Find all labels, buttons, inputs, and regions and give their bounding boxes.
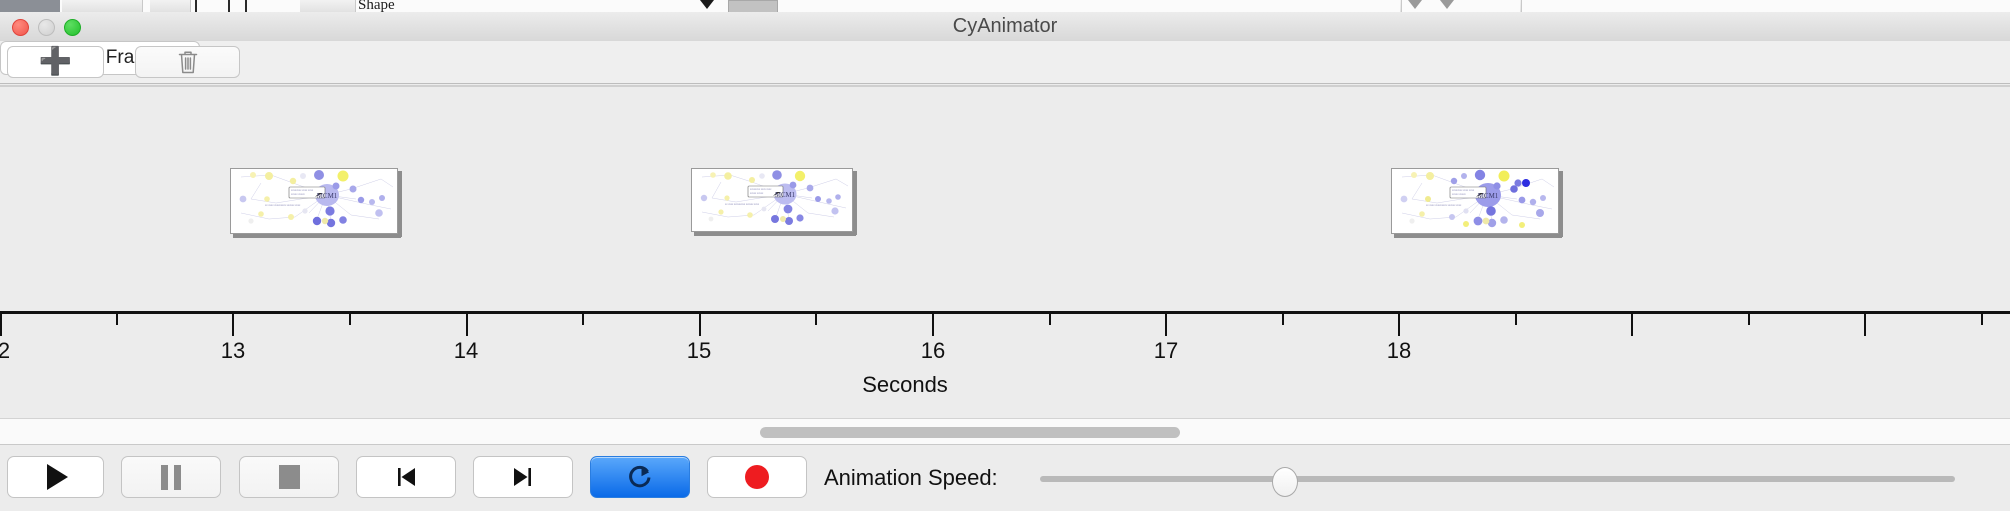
- cyanimator-window: Shape CyAnimator ➕ Clear All Frames: [0, 0, 2010, 510]
- axis-minor-tick: [1282, 314, 1284, 325]
- title-bar[interactable]: CyAnimator: [0, 12, 2010, 42]
- svg-text:xxxxxxxx xxxx xxxx: xxxxxxxx xxxx xxxx: [1452, 189, 1475, 192]
- axis-tick-label: 15: [687, 338, 711, 364]
- svg-text:xx xxxx xxxxxxxxx xxxxxx xxxx: xx xxxx xxxxxxxxx xxxxxx xxxx: [265, 204, 301, 207]
- window-title: CyAnimator: [0, 12, 2010, 41]
- playback-control-bar: Animation Speed:: [0, 444, 2010, 511]
- axis-minor-tick: [815, 314, 817, 325]
- axis-minor-tick: [1748, 314, 1750, 325]
- axis-minor-tick: [1515, 314, 1517, 325]
- background-tick: [195, 0, 197, 12]
- background-caret-icon: [700, 0, 714, 9]
- svg-text:MCM1: MCM1: [317, 192, 338, 200]
- axis-tick-label: 16: [921, 338, 945, 364]
- background-caret-icon: [1440, 0, 1454, 9]
- svg-text:xxxxxxxx xxxx xxxx: xxxxxxxx xxxx xxxx: [291, 189, 314, 192]
- axis-major-tick: [466, 314, 468, 336]
- axis-major-tick: [0, 314, 2, 336]
- timeline-frame-3[interactable]: xxxxxxxx xxxx xxxx xxxxx xxxxx xx xxxx x…: [1391, 168, 1559, 234]
- svg-text:xxxxx xxxxx: xxxxx xxxxx: [1452, 193, 1466, 196]
- axis-major-tick: [1165, 314, 1167, 336]
- loop-button[interactable]: [590, 456, 690, 498]
- toolbar-divider: [0, 83, 2010, 84]
- svg-text:xxxxxxxx xxxx xxxx: xxxxxxxx xxxx xxxx: [750, 188, 772, 191]
- svg-text:xxxxx xxxxx: xxxxx xxxxx: [291, 193, 305, 196]
- timeline-panel[interactable]: xxxxxxxx xxxx xxxx xxxxx xxxxx xx xxxx x…: [0, 87, 2010, 312]
- timeline-frame-2[interactable]: xxxxxxxx xxxx xxxx xxxxx xxxxx xx xxxx x…: [691, 168, 853, 232]
- skip-back-icon: [393, 464, 419, 490]
- background-segment: [62, 0, 143, 12]
- background-segment: [300, 0, 356, 12]
- axis-tick-label: 17: [1154, 338, 1178, 364]
- axis-tick-label: 18: [1387, 338, 1411, 364]
- pause-button[interactable]: [121, 456, 221, 498]
- record-icon: [745, 465, 769, 489]
- axis-major-tick: [1398, 314, 1400, 336]
- add-frame-button[interactable]: ➕: [7, 46, 104, 78]
- frame-toolbar: ➕ Clear All Frames: [0, 41, 2010, 83]
- animation-speed-slider-knob[interactable]: [1272, 467, 1298, 497]
- axis-major-tick: [1631, 314, 1633, 336]
- axis-major-tick: [699, 314, 701, 336]
- plus-icon: ➕: [39, 48, 73, 75]
- timeline-scrollbar[interactable]: [0, 418, 2010, 445]
- skip-forward-icon: [510, 464, 536, 490]
- axis-tick-label: 14: [454, 338, 478, 364]
- animation-speed-slider[interactable]: [1040, 476, 1955, 482]
- svg-text:xxxxx xxxxx: xxxxx xxxxx: [750, 192, 764, 195]
- background-segment: [1520, 0, 1522, 12]
- background-tick: [245, 0, 247, 12]
- background-segment: [150, 0, 191, 12]
- play-icon: [47, 464, 68, 490]
- timeline-axis-line: [0, 311, 2010, 314]
- axis-minor-tick: [1981, 314, 1983, 325]
- axis-tick-label: 13: [221, 338, 245, 364]
- axis-minor-tick: [349, 314, 351, 325]
- svg-text:xx xxxx xxxxxxxxx xxxxxx xxxx: xx xxxx xxxxxxxxx xxxxxx xxxx: [1426, 204, 1462, 207]
- scrollbar-thumb[interactable]: [760, 427, 1180, 438]
- skip-start-button[interactable]: [356, 456, 456, 498]
- delete-frame-button[interactable]: [135, 46, 240, 78]
- axis-title-text: Seconds: [862, 372, 948, 397]
- frame-thumbnail: xxxxxxxx xxxx xxxx xxxxx xxxxx xx xxxx x…: [231, 169, 397, 233]
- frame-thumbnail: xxxxxxxx xxxx xxxx xxxxx xxxxx xx xxxx x…: [692, 169, 852, 231]
- stop-icon: [279, 465, 300, 489]
- frame-thumbnail: xxxxxxxx xxxx xxxx xxxxx xxxxx xx xxxx x…: [1392, 169, 1558, 233]
- background-tick: [228, 0, 230, 12]
- background-caret-icon: [1408, 0, 1422, 9]
- axis-tick-label: 2: [0, 338, 10, 364]
- background-window-titlebar: [0, 0, 60, 12]
- loop-icon: [626, 463, 654, 491]
- axis-title: Seconds: [0, 372, 2010, 398]
- axis-major-tick: [932, 314, 934, 336]
- play-button[interactable]: [7, 456, 104, 498]
- pause-icon: [161, 465, 181, 490]
- stop-button[interactable]: [239, 456, 339, 498]
- axis-minor-tick: [582, 314, 584, 325]
- svg-text:MCM1: MCM1: [1478, 192, 1499, 200]
- axis-major-tick: [1864, 314, 1866, 336]
- svg-text:xx xxxx xxxxxxxxx xxxxxx xxxx: xx xxxx xxxxxxxxx xxxxxx xxxx: [725, 203, 760, 206]
- trash-icon: [177, 49, 199, 75]
- record-button[interactable]: [707, 456, 807, 498]
- animation-speed-label: Animation Speed:: [824, 445, 998, 511]
- axis-major-tick: [232, 314, 234, 336]
- svg-text:MCM1: MCM1: [775, 192, 795, 199]
- axis-minor-tick: [116, 314, 118, 325]
- background-segment: [1400, 0, 1402, 12]
- timeline-frame-1[interactable]: xxxxxxxx xxxx xxxx xxxxx xxxxx xx xxxx x…: [230, 168, 398, 234]
- axis-minor-tick: [1049, 314, 1051, 325]
- skip-end-button[interactable]: [473, 456, 573, 498]
